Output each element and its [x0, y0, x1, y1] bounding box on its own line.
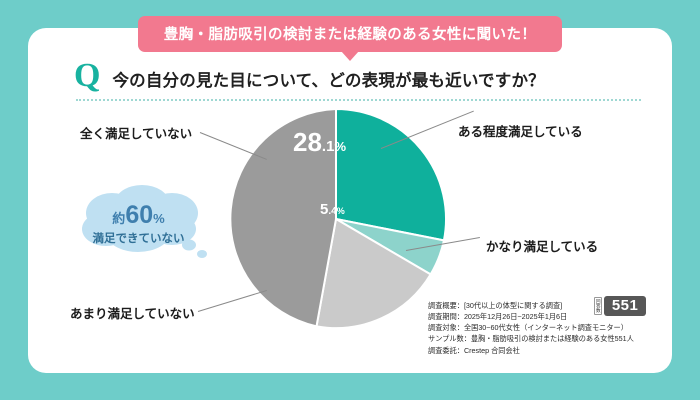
cloud-callout: 約60% 満足できていない [76, 183, 216, 263]
meta-line: 調査対象：全国30~60代女性（インターネット調査モニター） [428, 322, 634, 333]
pie-label-amari: あまり満足していない [70, 303, 195, 322]
badge-caption: 回答数 [594, 297, 602, 315]
pie-value-kanari: 5.4% [320, 202, 345, 218]
badge-value: 551 [604, 296, 647, 316]
pie-label-aru-teido: ある程度満足している [458, 121, 583, 140]
main-card: 豊胸・脂肪吸引の検討または経験のある女性に聞いた！ Q 今の自分の見た目について… [28, 28, 672, 373]
meta-line: 調査委託：Crestep 合同会社 [428, 345, 634, 356]
cloud-text: 約60% 満足できていない [76, 203, 201, 246]
pie-label-mattaku: 全く満足していない [80, 123, 192, 142]
pie-value-aru-teido: 28.1% [293, 129, 346, 155]
response-count-badge: 回答数 551 [594, 296, 646, 316]
meta-line: サンプル数：豊胸・脂肪吸引の検討または経験のある女性551人 [428, 333, 634, 344]
pie-label-kanari: かなり満足している [486, 236, 598, 255]
